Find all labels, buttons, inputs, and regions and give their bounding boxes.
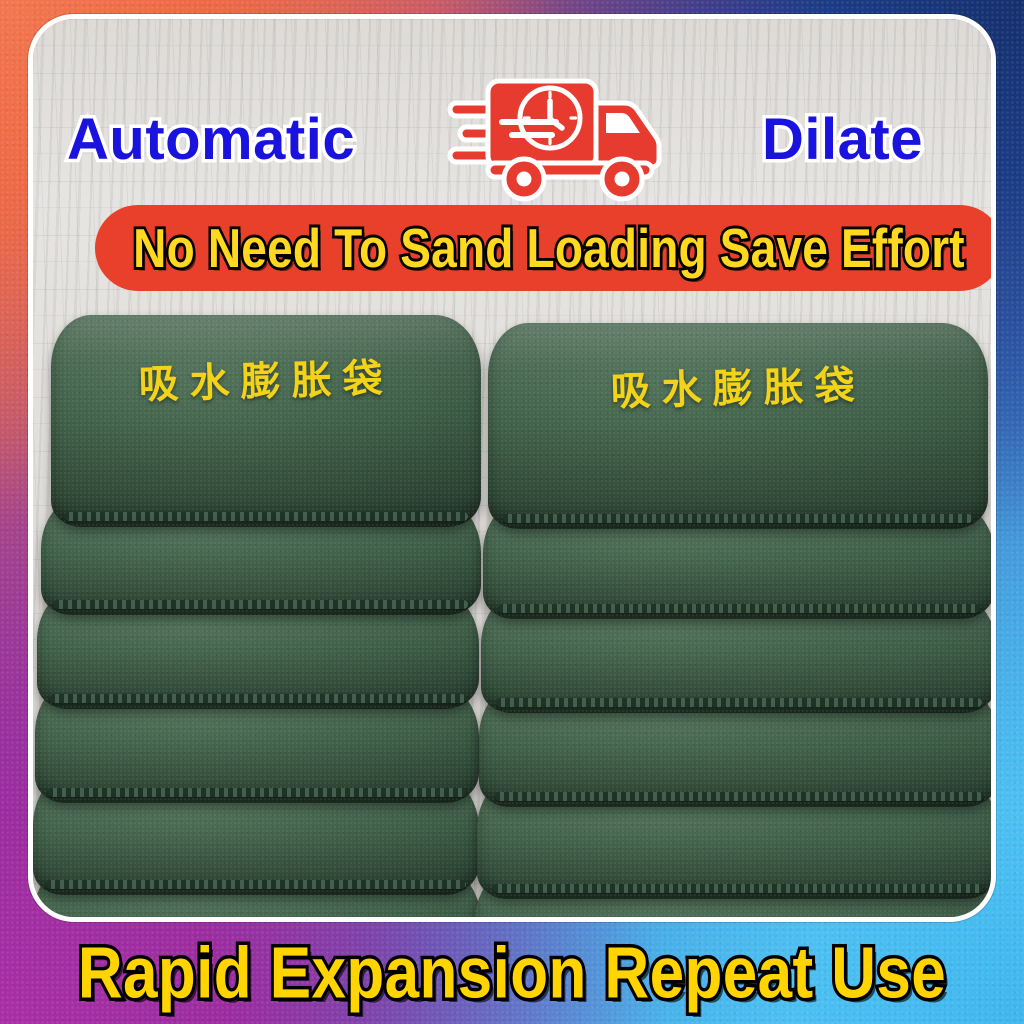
bottom-caption-bar: Rapid Expansion Repeat Use: [0, 922, 1024, 1024]
bag-seam: [64, 512, 468, 521]
bag-seam: [54, 600, 468, 609]
bottom-caption-text: Rapid Expansion Repeat Use: [78, 932, 946, 1014]
bag-seam: [503, 514, 973, 523]
bag-seam: [498, 604, 979, 613]
product-photo: 吸水膨胀袋: [33, 301, 991, 917]
sandbag-top-right: 吸水膨胀袋: [488, 323, 988, 529]
promo-banner: No Need To Sand Loading Save Effort: [95, 205, 996, 291]
promo-banner-text: No Need To Sand Loading Save Effort: [133, 216, 965, 280]
product-ad-banner: Automatic: [0, 0, 1024, 1024]
headline-right: Dilate: [762, 106, 923, 173]
delivery-truck-icon: [446, 75, 666, 203]
bag-label-right: 吸水膨胀袋: [487, 350, 988, 420]
bag-seam: [496, 698, 981, 707]
bag-seam: [495, 792, 984, 801]
clock-icon: [520, 88, 580, 148]
bag-seam: [48, 788, 465, 797]
inner-photo-frame: Automatic: [28, 14, 996, 922]
bag-seam: [46, 880, 465, 889]
headline-left: Automatic: [67, 106, 355, 173]
sandbag-top-left: 吸水膨胀袋: [51, 315, 481, 527]
bag-label-left: 吸水膨胀袋: [50, 344, 481, 412]
bag-seam: [50, 694, 466, 703]
headline-row: Automatic: [33, 91, 991, 187]
bag-seam: [493, 884, 984, 893]
